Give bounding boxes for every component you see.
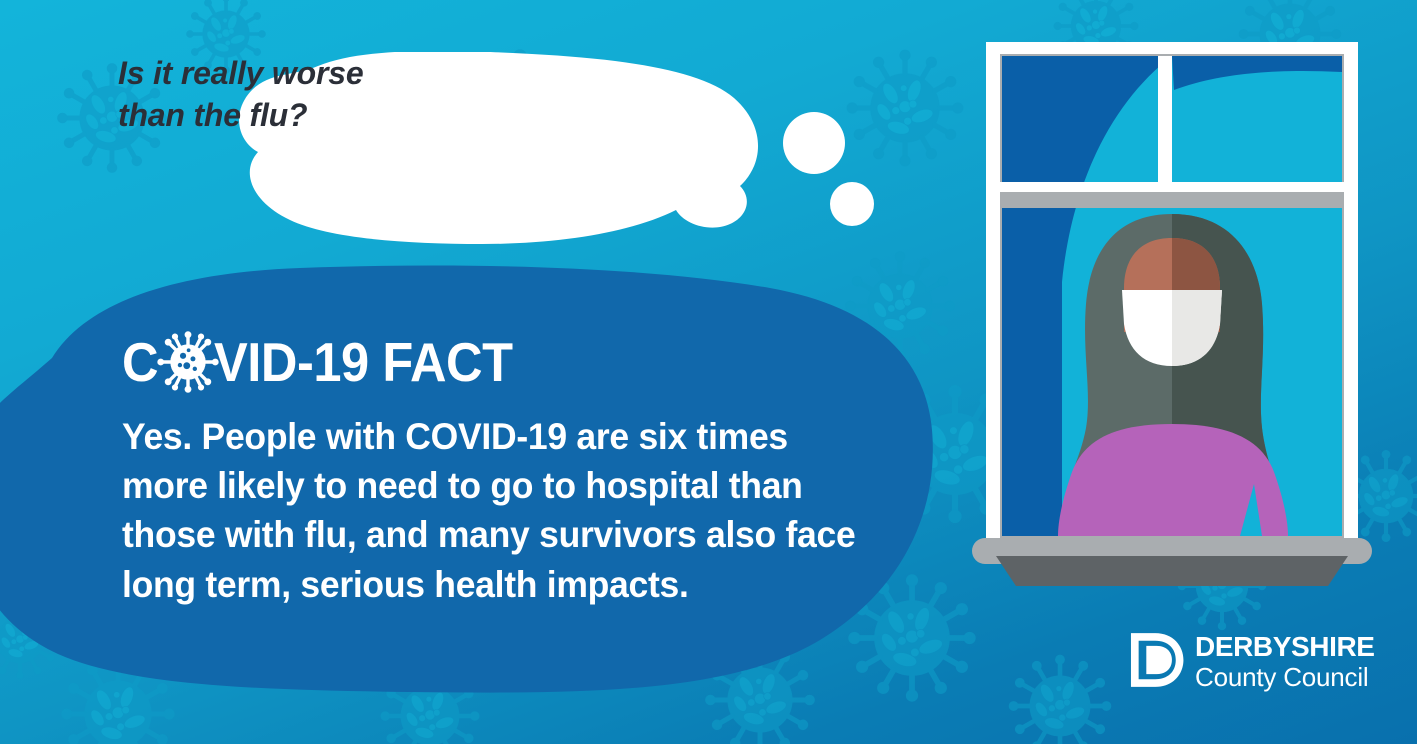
woman-in-window-illustration [962, 32, 1382, 592]
fact-heading: C [122, 330, 902, 394]
heading-letter-c: C [122, 335, 158, 390]
fact-content: C [122, 330, 902, 609]
covid-fact-poster: C [0, 0, 1417, 744]
logo-line-county-council: County Council [1195, 664, 1375, 690]
thought-dot-large-icon [783, 112, 845, 174]
logo-line-derbyshire: DERBYSHIRE [1195, 633, 1375, 661]
logo-wordmark: DERBYSHIRE County Council [1195, 631, 1375, 690]
heading-text-rest: VID-19 FACT [214, 335, 513, 390]
derbyshire-county-council-logo: DERBYSHIRE County Council [1122, 628, 1375, 692]
thought-dot-small-icon [830, 182, 874, 226]
coronavirus-icon [157, 331, 219, 393]
fact-body-text: Yes. People with COVID-19 are six times … [122, 412, 871, 609]
derbyshire-d-monogram-icon [1122, 628, 1186, 692]
speech-bubble-question: Is it really worse than the flu? [118, 52, 478, 136]
